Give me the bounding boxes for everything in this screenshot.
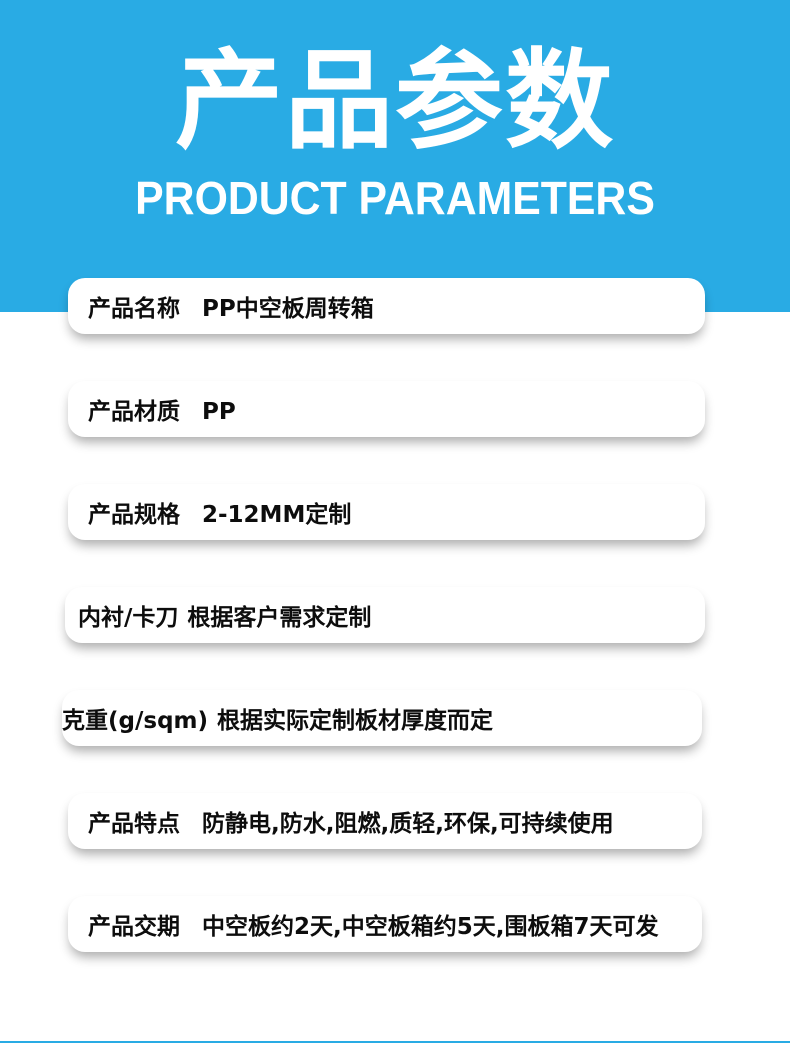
bottom-divider xyxy=(0,1041,790,1043)
parameter-value: 根据客户需求定制 xyxy=(187,598,371,632)
row-content: 产品交期 中空板约2天,中空板箱约5天,围板箱7天可发 xyxy=(68,907,659,941)
row-content: 克重(g/sqm) 根据实际定制板材厚度而定 xyxy=(62,701,493,735)
parameter-label: 产品材质 xyxy=(88,392,180,426)
parameter-value: PP xyxy=(202,399,236,425)
parameter-list: 产品名称 PP中空板周转箱 产品材质 PP 产品规格 2-12MM定制 内衬/卡… xyxy=(0,0,790,1049)
parameter-row-lead-time: 产品交期 中空板约2天,中空板箱约5天,围板箱7天可发 xyxy=(68,896,702,952)
parameter-value: PP中空板周转箱 xyxy=(202,289,374,323)
parameter-value: 2-12MM定制 xyxy=(202,495,351,529)
parameter-value: 根据实际定制板材厚度而定 xyxy=(217,701,493,735)
row-content: 产品材质 PP xyxy=(68,392,236,426)
parameter-value: 防静电,防水,阻燃,质轻,环保,可持续使用 xyxy=(202,804,614,838)
parameter-label: 内衬/卡刀 xyxy=(78,598,178,632)
parameter-label: 产品规格 xyxy=(88,495,180,529)
parameter-label: 产品交期 xyxy=(88,907,180,941)
parameter-label: 产品特点 xyxy=(88,804,180,838)
parameter-row-liner: 内衬/卡刀 根据客户需求定制 xyxy=(65,587,705,643)
parameter-row-gram-weight: 克重(g/sqm) 根据实际定制板材厚度而定 xyxy=(62,690,702,746)
parameter-row-product-name: 产品名称 PP中空板周转箱 xyxy=(68,278,705,334)
row-content: 产品特点 防静电,防水,阻燃,质轻,环保,可持续使用 xyxy=(68,804,614,838)
row-content: 产品名称 PP中空板周转箱 xyxy=(68,289,374,323)
row-content: 产品规格 2-12MM定制 xyxy=(68,495,351,529)
parameter-row-specification: 产品规格 2-12MM定制 xyxy=(68,484,705,540)
parameter-label: 克重(g/sqm) xyxy=(62,701,208,735)
row-content: 内衬/卡刀 根据客户需求定制 xyxy=(65,598,371,632)
parameter-row-features: 产品特点 防静电,防水,阻燃,质轻,环保,可持续使用 xyxy=(68,793,702,849)
parameter-label: 产品名称 xyxy=(88,289,180,323)
parameter-value: 中空板约2天,中空板箱约5天,围板箱7天可发 xyxy=(202,907,659,941)
parameter-row-material: 产品材质 PP xyxy=(68,381,705,437)
